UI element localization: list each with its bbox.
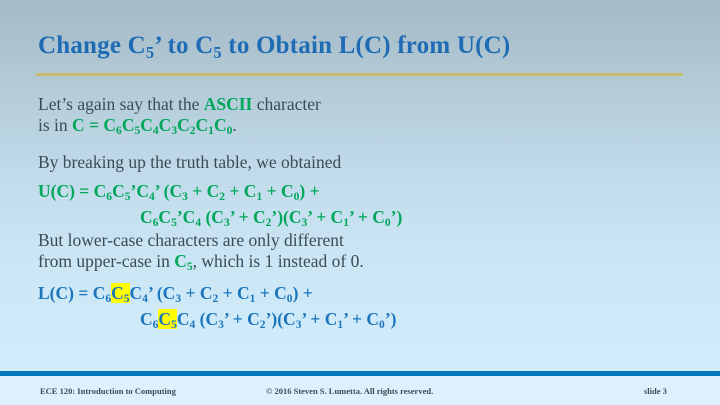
sub-5: 5 (125, 191, 131, 203)
sub-3: 3 (302, 217, 308, 229)
p1-line2: is in C = C6C5C4C3C2C1C0. (38, 115, 237, 135)
paragraph-ascii-intro: Let’s again say that the ASCII character… (38, 94, 321, 139)
sub-5: 5 (187, 261, 193, 273)
sub-1: 1 (208, 125, 214, 137)
sub-4: 4 (142, 293, 148, 305)
sub-4: 4 (149, 191, 155, 203)
highlight-c5-first: C5 (111, 283, 129, 303)
equation-uppercase: U(C) = C6C5’C4’ (C3 + C2 + C1 + C0) + C6… (38, 180, 402, 232)
sub-3: 3 (171, 125, 177, 137)
equation-lowercase: L(C) = C6C5C4’ (C3 + C2 + C1 + C0) + C6C… (38, 282, 396, 334)
sub-5: 5 (171, 217, 177, 229)
sub-6: 6 (106, 191, 112, 203)
sub-1: 1 (256, 191, 262, 203)
p3-text-a: from upper-case in (38, 251, 174, 271)
sub-1: 1 (337, 319, 343, 331)
sub-0: 0 (227, 125, 233, 137)
sub-0: 0 (287, 293, 293, 305)
sub-4: 4 (153, 125, 159, 137)
title-sub-a: 5 (146, 43, 154, 62)
sub-6: 6 (153, 217, 159, 229)
sub-2: 2 (266, 217, 272, 229)
title-divider-rule (36, 73, 683, 76)
sub-0: 0 (385, 217, 391, 229)
p3-line2: from upper-case in C5, which is 1 instea… (38, 251, 364, 271)
sub-1: 1 (250, 293, 256, 305)
title-sub-b: 5 (213, 43, 221, 62)
c-definition-equation: C = C6C5C4C3C2C1C0 (72, 115, 232, 135)
equation-l-line1: L(C) = C6C5C4’ (C3 + C2 + C1 + C0) + (38, 283, 313, 303)
sub-2: 2 (260, 319, 266, 331)
sub-1: 1 (343, 217, 349, 229)
sub-3: 3 (175, 293, 181, 305)
p1-period: . (232, 115, 236, 135)
sub-2: 2 (190, 125, 196, 137)
title-part-c: to Obtain L(C) from U(C) (222, 32, 511, 59)
paragraph-truth-table: By breaking up the truth table, we obtai… (38, 152, 341, 173)
p1-text-a: Let’s again say that the (38, 94, 204, 114)
ascii-keyword: ASCII (204, 94, 253, 114)
sub-2: 2 (212, 293, 218, 305)
title-part-a: Change C (38, 32, 146, 59)
sub-0: 0 (379, 319, 385, 331)
sub-3: 3 (224, 217, 230, 229)
p3-line1: But lower-case characters are only diffe… (38, 230, 344, 250)
sub-3: 3 (218, 319, 224, 331)
sub-3: 3 (182, 191, 188, 203)
footer-copyright: © 2016 Steven S. Lumetta. All rights res… (266, 386, 433, 396)
p1-line1: Let’s again say that the ASCII character (38, 94, 321, 114)
sub-2: 2 (219, 191, 225, 203)
footer-slide-number: slide 3 (644, 386, 667, 396)
p2-text: By breaking up the truth table, we obtai… (38, 152, 341, 172)
equation-u-line1: U(C) = C6C5’C4’ (C3 + C2 + C1 + C0) + (38, 181, 320, 201)
page-title: Change C5’ to C5 to Obtain L(C) from U(C… (38, 32, 510, 60)
sub-6: 6 (116, 125, 122, 137)
sub-5: 5 (171, 319, 177, 331)
paragraph-lowercase-note: But lower-case characters are only diffe… (38, 230, 364, 275)
c5-variable: C5 (174, 251, 192, 271)
sub-5: 5 (124, 293, 130, 305)
sub-5: 5 (134, 125, 140, 137)
title-part-b: ’ to C (154, 32, 213, 59)
p3-text-b: , which is 1 instead of 0. (193, 251, 364, 271)
sub-6: 6 (105, 293, 111, 305)
sub-4: 4 (195, 217, 201, 229)
equation-u-line2: C6C5’C4 (C3’ + C2’)(C3’ + C1’ + C0’) (38, 206, 402, 232)
equation-l-line2: C6C5C4 (C3’ + C2’)(C3’ + C1’ + C0’) (38, 308, 396, 334)
sub-6: 6 (153, 319, 159, 331)
slide-canvas: Change C5’ to C5 to Obtain L(C) from U(C… (0, 0, 720, 405)
sub-4: 4 (189, 319, 195, 331)
highlight-c5-second: C5 (158, 309, 176, 329)
footer-course-label: ECE 120: Introduction to Computing (40, 386, 176, 396)
sub-0: 0 (294, 191, 300, 203)
p1-text-b: character (252, 94, 320, 114)
sub-3: 3 (296, 319, 302, 331)
p1-text-c: is in (38, 115, 72, 135)
